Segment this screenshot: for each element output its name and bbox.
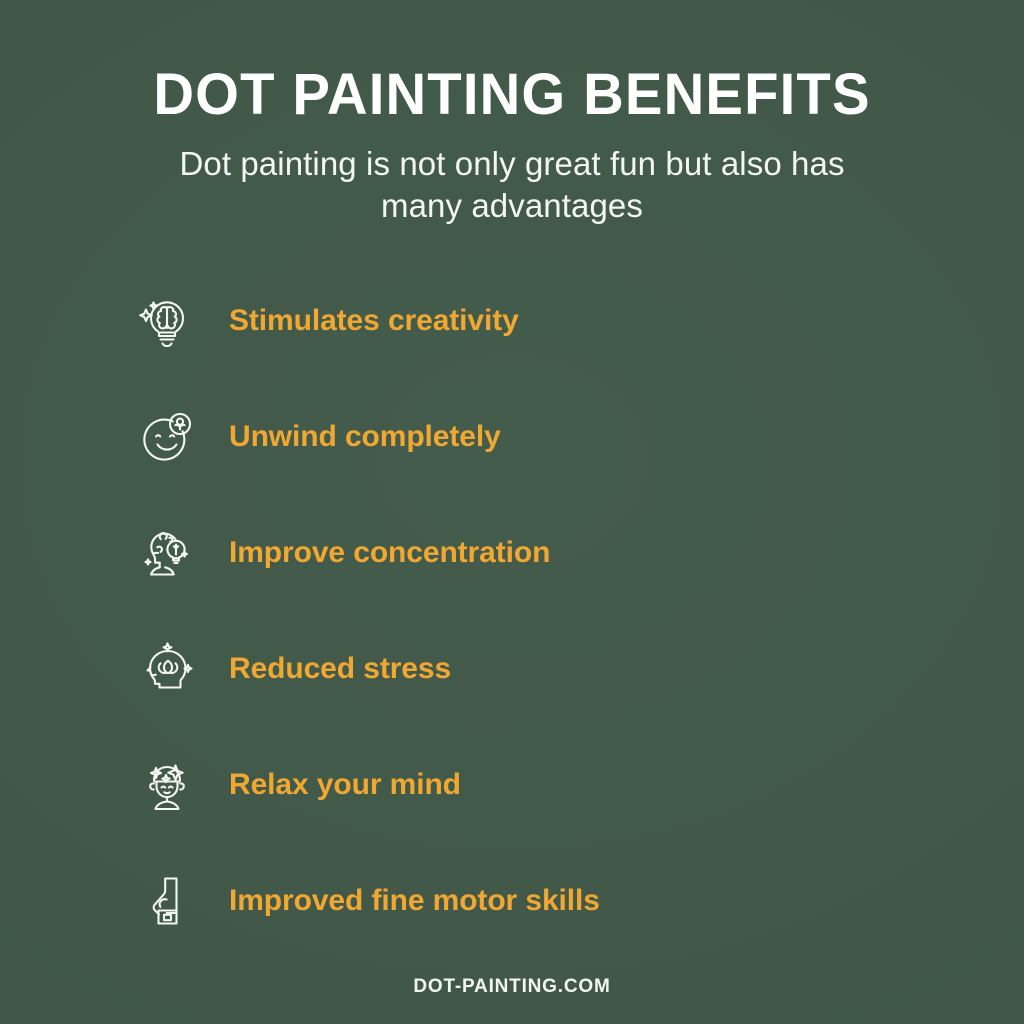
brain-lightbulb-icon [130,284,204,358]
poster-header: DOT PAINTING BENEFITS Dot painting is no… [0,0,1024,227]
list-item: Relax your mind [130,727,1024,843]
poster-footer: DOT-PAINTING.COM [0,976,1024,998]
list-item: Stimulates creativity [130,263,1024,379]
hand-holding-tool-icon [130,864,204,938]
benefit-label: Improved fine motor skills [229,884,600,918]
page-title: DOT PAINTING BENEFITS [15,66,1008,124]
benefits-list: Stimulates creativity Unwind completely [0,263,1024,959]
benefit-label: Unwind completely [229,420,501,454]
head-lotus-icon [130,632,204,706]
list-item: Improve concentration [130,495,1024,611]
benefit-label: Reduced stress [229,652,451,686]
list-item: Improved fine motor skills [130,843,1024,959]
smiling-face-flower-icon [130,400,204,474]
head-lightbulb-icon [130,516,204,590]
list-item: Reduced stress [130,611,1024,727]
benefit-label: Relax your mind [229,768,461,802]
calm-person-stars-icon [130,748,204,822]
benefit-label: Improve concentration [229,536,550,570]
page-subtitle: Dot painting is not only great fun but a… [147,143,877,227]
list-item: Unwind completely [130,379,1024,495]
website-label: DOT-PAINTING.COM [413,976,610,997]
infographic-poster: DOT PAINTING BENEFITS Dot painting is no… [0,0,1024,1024]
benefit-label: Stimulates creativity [229,304,519,338]
